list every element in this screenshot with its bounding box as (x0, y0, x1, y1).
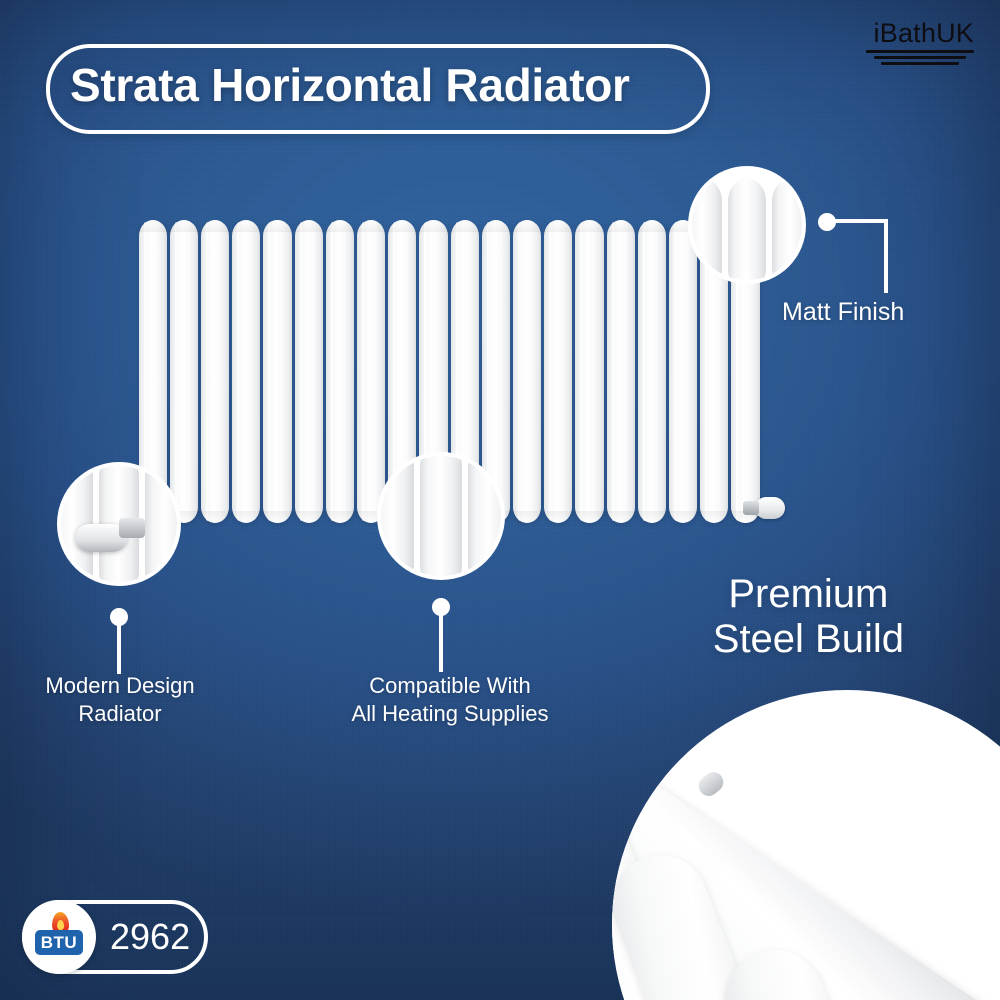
feature-highlight-line-2: Steel Build (713, 617, 904, 662)
product-closeup-circle (612, 690, 1000, 1000)
btu-value: 2962 (110, 919, 190, 955)
btu-badge: BTU 2962 (22, 900, 208, 974)
zoom-bubble-compatibility (377, 452, 505, 580)
callout-line-1: Modern Design (0, 672, 240, 700)
radiator-fin (199, 220, 230, 523)
zoom-bubble-matt-finish (688, 166, 806, 284)
radiator-fin (324, 220, 355, 523)
logo-underline-icon (866, 50, 974, 65)
zoom-bubble-modern-design (57, 462, 181, 586)
callout-stem-matt-finish-h (834, 219, 888, 223)
radiator-fin (511, 220, 542, 523)
callout-label-compatible: Compatible With All Heating Supplies (320, 672, 580, 728)
callout-line-1: Compatible With (320, 672, 580, 700)
radiator-fin (636, 220, 667, 523)
radiator-fin (293, 220, 324, 523)
radiator-valve-right (755, 497, 785, 519)
callout-label-matt-finish: Matt Finish (782, 296, 904, 328)
btu-tag: BTU (35, 930, 83, 955)
callout-dot-matt-finish (818, 213, 836, 231)
callout-line-2: All Heating Supplies (320, 700, 580, 728)
radiator-fin (262, 220, 293, 523)
feature-highlight: Premium Steel Build (713, 572, 904, 662)
feature-highlight-line-1: Premium (713, 572, 904, 617)
valve-nut-closeup-icon (119, 518, 145, 538)
radiator-fin (231, 220, 262, 523)
closeup-fin-cap-icon (695, 768, 728, 800)
radiator-fin (543, 220, 574, 523)
radiator-fin (605, 220, 636, 523)
brand-logo-text: iBathUK (866, 20, 974, 47)
btu-badge-circle: BTU (22, 900, 96, 974)
callout-label-modern-design: Modern Design Radiator (0, 672, 240, 728)
btu-mark: BTU (33, 913, 85, 961)
callout-stem-matt-finish-v (884, 219, 888, 293)
btu-label: BTU (41, 934, 77, 951)
page-title: Strata Horizontal Radiator (70, 58, 630, 112)
callout-line-2: Radiator (0, 700, 240, 728)
promo-banner: iBathUK Strata Horizontal Radiator (0, 0, 1000, 1000)
brand-logo: iBathUK (866, 20, 974, 65)
callout-dot-compatible (432, 598, 450, 616)
callout-dot-modern-design (110, 608, 128, 626)
radiator-fin (574, 220, 605, 523)
